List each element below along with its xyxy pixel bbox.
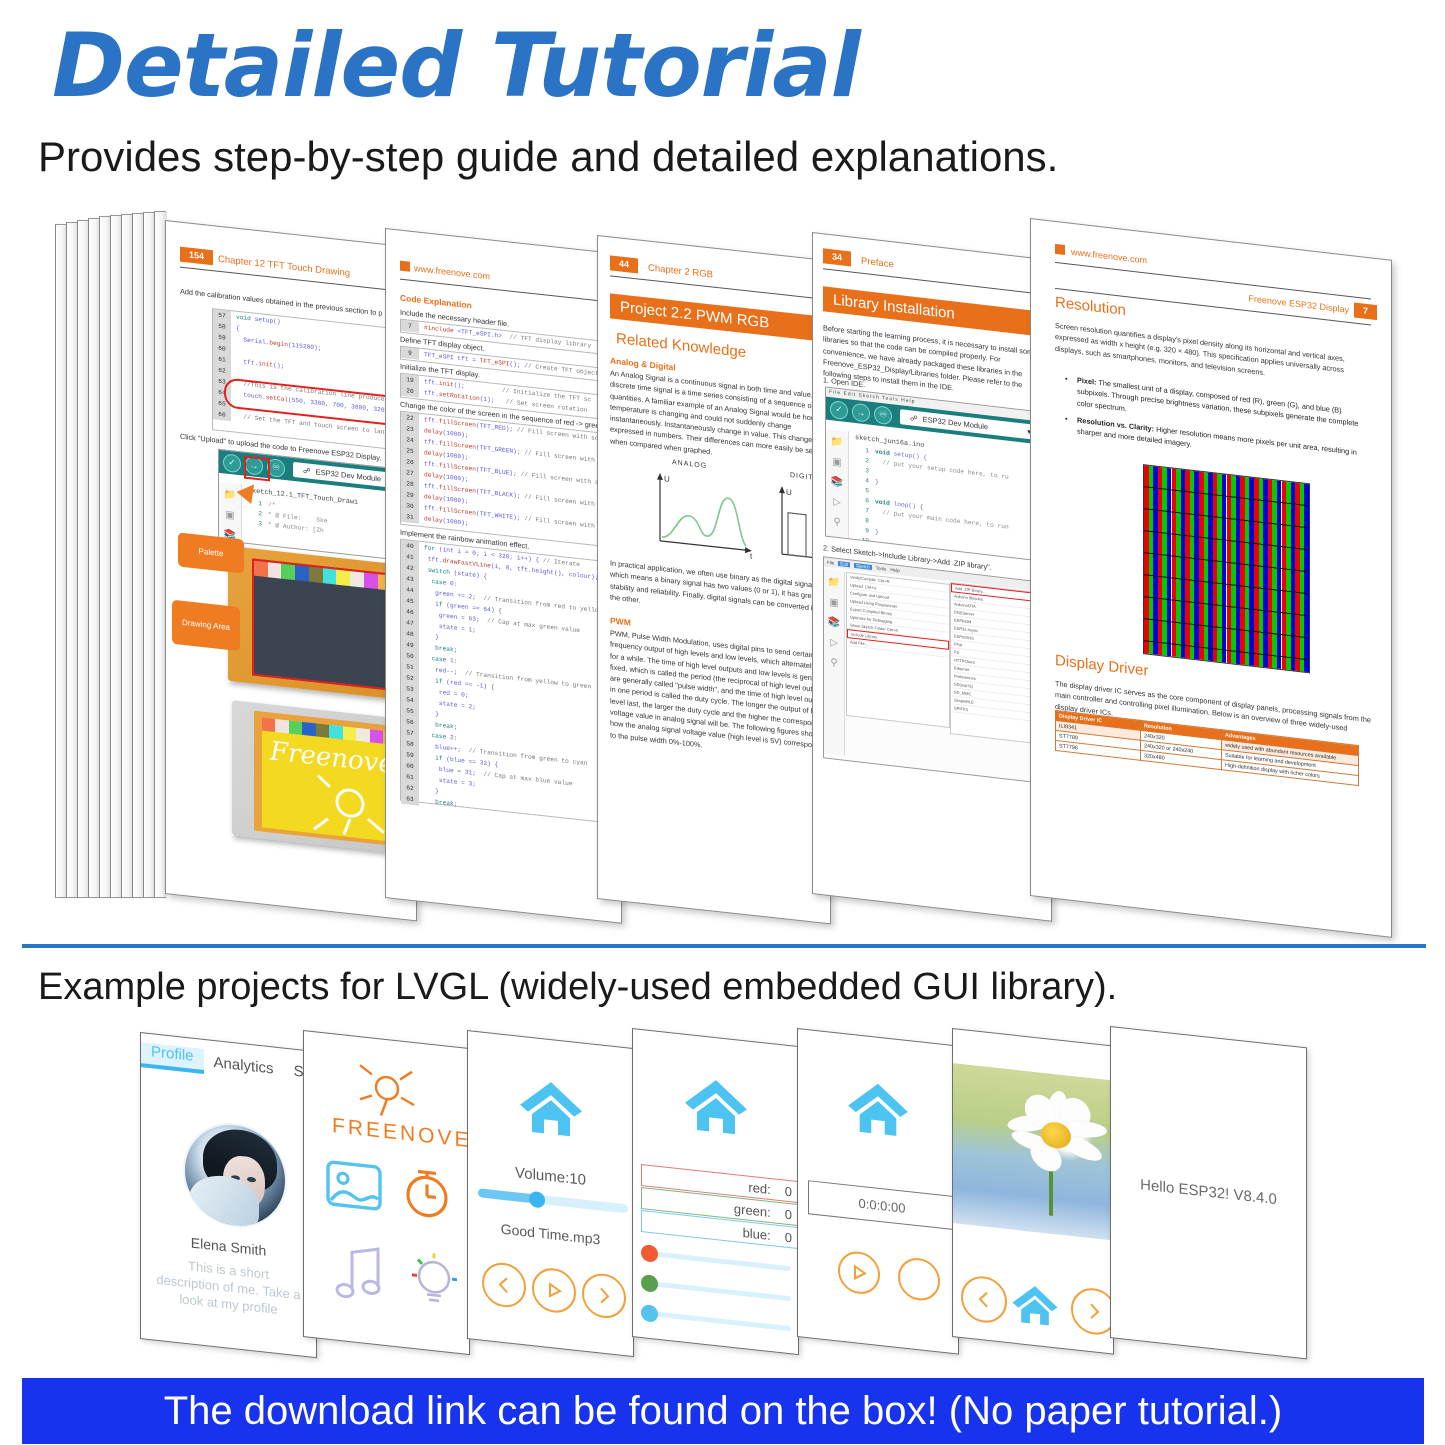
usb-icon: ☍ [910,413,918,423]
dialog-sidebar[interactable]: 📁 ▣ 📚 ▷ ⚲ [824,569,845,755]
lvgl-card-profile[interactable]: Profile Analytics Sh Elena Smith This is… [140,1032,317,1358]
page3-related-knowledge: Related Knowledge [616,330,746,361]
next-button[interactable] [582,1271,626,1320]
tutorial-page-1[interactable]: 154 Chapter 12 TFT Touch Drawing Add the… [165,220,417,921]
debug-icon[interactable]: ▷ [830,637,838,649]
page-number: 7 [1354,302,1377,320]
include-library-column[interactable]: Add .ZIP library... Arduino libraries Ar… [950,582,1038,744]
debug-icon[interactable]: ▷ [833,496,841,508]
page-number: 44 [610,255,638,273]
home-icon[interactable] [1011,1281,1059,1328]
red-slider-knob[interactable] [641,1244,658,1263]
svg-text:t: t [750,552,753,561]
ide-sidebar[interactable]: 📁 ▣ 📚 ▷ ⚲ [826,429,849,539]
section-divider [22,944,1426,948]
page2-code-5: 40for (int i = 0; i < 320; i++) { // Ite… [400,539,614,824]
page-header: Chapter 12 TFT Touch Drawing [218,254,350,279]
volume-label: Volume:10 [468,1159,633,1194]
download-banner: The download link can be found on the bo… [22,1378,1424,1444]
page5-resolution-heading: Resolution [1055,294,1126,319]
freenove-url: www.freenove.com [414,263,490,281]
board-icon[interactable]: ▣ [829,597,838,609]
blue-slider-knob[interactable] [641,1304,658,1323]
figure-label-analog: ANALOG [672,459,707,470]
lvgl-card-hello[interactable]: Hello ESP32! V8.4.0 [1110,1026,1307,1359]
freenove-logo-icon [400,261,410,272]
tab-profile[interactable]: Profile [141,1042,204,1074]
callout-palette: Palette [178,532,244,573]
lvgl-card-music-player[interactable]: Volume:10 Good Time.mp3 [467,1030,634,1357]
search-icon[interactable]: ⚲ [830,657,837,669]
board-icon[interactable]: ▣ [225,510,234,522]
home-icon[interactable] [518,1077,584,1140]
callout-drawing-area: Drawing Area [172,600,240,651]
volume-slider[interactable] [478,1188,628,1213]
home-icon[interactable] [846,1078,910,1139]
svg-text:U: U [786,488,792,498]
tutorial-page-2[interactable]: www.freenove.com Code Explanation Includ… [385,228,622,924]
prev-button[interactable] [961,1274,1007,1325]
clock-icon[interactable] [401,1164,453,1227]
page-header: Preface [861,256,894,271]
library-icon[interactable]: 📚 [828,617,840,629]
search-icon[interactable]: ⚲ [833,516,840,528]
page-header: Chapter 2 RGB [648,263,713,281]
green-slider-knob[interactable] [641,1274,658,1293]
timer-display: 0:0:0:00 [808,1180,956,1230]
page-number: 154 [180,247,213,266]
page-number: 34 [823,248,851,266]
page-subtitle: Provides step-by-step guide and detailed… [38,133,1058,181]
page3-pwm-heading: PWM [610,615,631,627]
freenove-url: www.freenove.com [1071,247,1147,266]
page2-code-4: 22tft.fillScreen(TFT_RED); // Fill scree… [400,411,614,548]
tutorial-pages-group: 154 Chapter 12 TFT Touch Drawing Add the… [0,210,1445,930]
library-icon[interactable]: 📚 [831,476,843,488]
lvgl-card-photo-viewer[interactable] [952,1028,1114,1355]
freenove-logo-icon [1055,244,1065,255]
daisy-photo [953,1063,1113,1240]
lightbulb-icon[interactable] [408,1248,460,1315]
debug-button[interactable]: ♾ [874,405,892,425]
tab-analytics[interactable]: Analytics [204,1053,284,1083]
lvgl-card-home-icons[interactable]: FREENOVE [303,1030,470,1355]
lvgl-cards-group: Profile Analytics Sh Elena Smith This is… [0,1020,1445,1365]
page3-pwm-para: PWM, Pulse Width Modulation, uses digita… [610,627,830,764]
image-icon[interactable] [326,1159,382,1216]
lvgl-card-timer[interactable]: 0:0:0:00 [797,1028,959,1355]
upload-button[interactable]: → [852,402,870,422]
page4-ide-mock[interactable]: File Edit Sketch Tools Help ✓ → ♾ ☍ ESP3… [825,387,1043,562]
green-slider[interactable] [651,1281,791,1301]
avatar [183,1118,287,1233]
page-title: Detailed Tutorial [52,22,860,110]
track-name: Good Time.mp3 [468,1217,633,1251]
profile-description: This is a short description of me. Take … [141,1253,316,1323]
sketch-menu-column[interactable]: Verify/Compile Ctrl+R Upload Ctrl+U Conf… [846,572,950,728]
tutorial-page-5[interactable]: www.freenove.com Freenove ESP32 Display … [1030,218,1392,938]
svg-text:U: U [664,474,670,484]
music-icon[interactable] [334,1242,386,1309]
hello-text: Hello ESP32! V8.4.0 [1111,1173,1306,1211]
home-icon[interactable] [683,1075,749,1138]
folder-icon[interactable]: 📁 [828,577,840,589]
start-button[interactable] [838,1249,880,1296]
tutorial-page-3[interactable]: 44 Chapter 2 RGB Project 2.2 PWM RGB Rel… [597,235,831,924]
lvgl-section-caption: Example projects for LVGL (widely-used e… [38,966,1117,1009]
tutorial-page-4[interactable]: 34 Preface Library Installation Before s… [812,232,1052,922]
stop-button[interactable] [898,1256,940,1303]
folder-icon[interactable]: 📁 [224,489,236,501]
prev-button[interactable] [482,1261,526,1310]
page3-para: An Analog Signal is a continuous signal … [610,367,830,470]
blue-slider[interactable] [651,1311,791,1331]
lvgl-card-rgb-control[interactable]: red: 0 green: 0 blue: 0 [632,1028,799,1355]
folder-icon[interactable]: 📁 [831,436,843,448]
tabbar[interactable]: Profile Analytics Sh [141,1033,316,1086]
board-icon[interactable]: ▣ [832,456,841,468]
daisy-flower [1003,1083,1113,1225]
usb-icon: ☍ [303,466,311,476]
play-button[interactable] [532,1266,576,1315]
verify-button[interactable]: ✓ [830,400,848,420]
red-slider[interactable] [651,1251,791,1271]
rgb-subpixel-grid [1143,464,1310,673]
verify-button[interactable]: ✓ [223,453,241,473]
page5-driver-heading: Display Driver [1055,652,1148,680]
page4-library-dialog[interactable]: FileEdit SketchToolsHelp Verify/Compile … [823,556,1047,784]
next-button[interactable] [1071,1286,1113,1337]
banner-text: The download link can be found on the bo… [164,1389,1282,1434]
